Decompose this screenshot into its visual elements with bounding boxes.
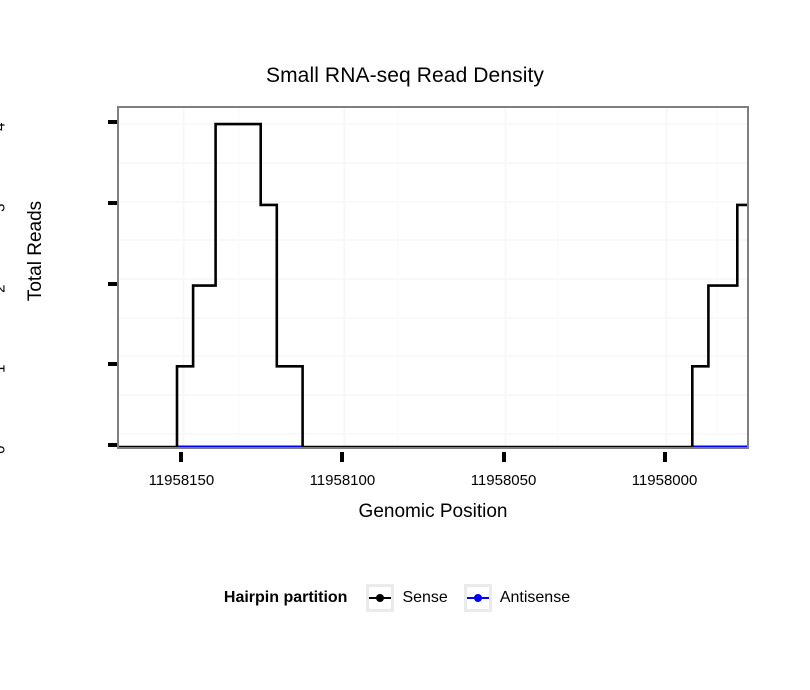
chart-root: Small RNA-seq Read Density Total Reads 4… <box>0 0 810 690</box>
x-tick-label-11958000: 11958000 <box>585 472 745 489</box>
y-tick-label-1: 1 <box>0 365 9 405</box>
y-tick-label-2: 2 <box>0 284 9 324</box>
legend: Hairpin partition Sense Antisense <box>0 582 810 614</box>
y-tick-mark-4 <box>108 120 117 124</box>
y-tick-label-4: 4 <box>0 123 9 163</box>
y-tick-mark-0 <box>108 443 117 447</box>
y-axis-title: Total Reads <box>25 161 47 341</box>
y-tick-mark-3 <box>108 201 117 205</box>
legend-title: Hairpin partition <box>224 589 348 607</box>
legend-entry-antisense[interactable]: Antisense <box>464 584 570 612</box>
y-tick-mark-1 <box>108 362 117 366</box>
data-series-layer <box>119 108 747 447</box>
x-tick-mark-11958000 <box>663 452 667 462</box>
series-sense <box>119 124 747 447</box>
y-tick-label-0: 0 <box>0 446 9 486</box>
x-tick-label-11958050: 11958050 <box>424 472 584 489</box>
legend-point-icon-sense <box>376 594 384 602</box>
x-tick-mark-11958150 <box>179 452 183 462</box>
legend-key-glyph-sense <box>369 587 391 609</box>
legend-point-icon-antisense <box>474 594 482 602</box>
x-tick-label-11958100: 11958100 <box>262 472 422 489</box>
legend-key-antisense <box>464 584 492 612</box>
legend-key-sense <box>366 584 394 612</box>
legend-entry-sense[interactable]: Sense <box>366 584 447 612</box>
plot-panel <box>117 106 749 449</box>
legend-label-sense: Sense <box>402 589 447 607</box>
y-tick-label-3: 3 <box>0 203 9 243</box>
x-tick-label-11958150: 11958150 <box>101 472 261 489</box>
y-tick-mark-2 <box>108 282 117 286</box>
x-tick-mark-11958050 <box>502 452 506 462</box>
legend-label-antisense: Antisense <box>500 589 570 607</box>
x-tick-mark-11958100 <box>340 452 344 462</box>
chart-title: Small RNA-seq Read Density <box>0 64 810 88</box>
x-axis-title: Genomic Position <box>117 501 749 523</box>
legend-key-glyph-antisense <box>467 587 489 609</box>
plot-panel-inner <box>119 108 747 447</box>
